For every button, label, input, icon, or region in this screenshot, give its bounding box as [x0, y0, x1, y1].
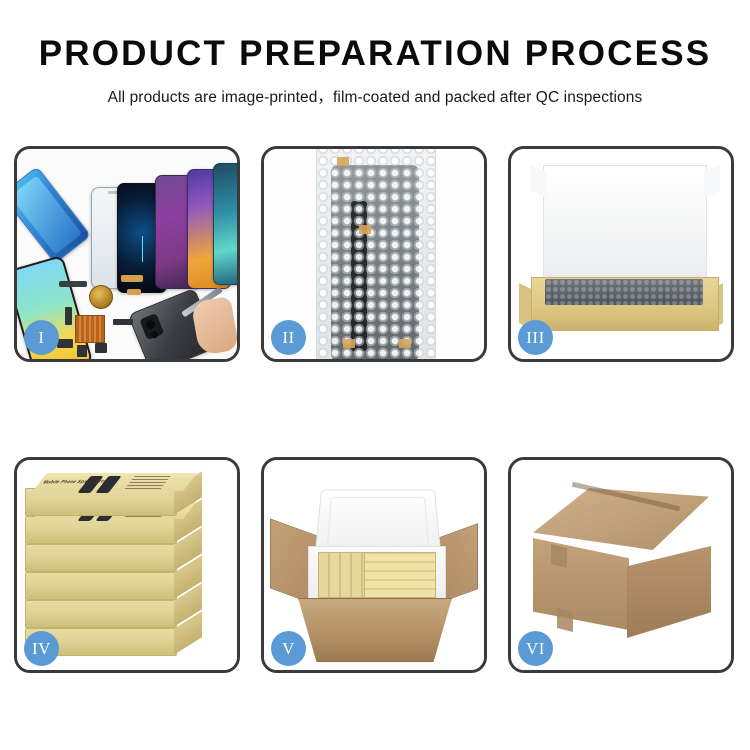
yellow-boxes-flat: [364, 552, 436, 598]
tape-piece-1: [337, 157, 349, 166]
kraft-box-lid: [543, 165, 707, 285]
carton-front-face: [533, 538, 629, 630]
step-badge-2: II: [271, 320, 306, 355]
process-step-grid: I II: [14, 146, 740, 673]
tape-piece-3: [343, 339, 355, 348]
stacked-box-5: [25, 600, 177, 628]
process-step-panel-3: III: [508, 146, 734, 362]
connector-part-5: [113, 319, 133, 325]
bubble-texture: [317, 149, 435, 359]
step-badge-4: IV: [24, 631, 59, 666]
step-badge-3: III: [518, 320, 553, 355]
carton-side-face: [627, 546, 711, 638]
page-title: PRODUCT PREPARATION PROCESS: [0, 36, 750, 71]
connector-part-3: [77, 345, 87, 357]
page-header: PRODUCT PREPARATION PROCESS All products…: [0, 0, 750, 107]
page-subtitle: All products are image-printed，film-coat…: [0, 85, 750, 107]
box-stack: Mobile Phone Spare Parts Mobile Phone Sp…: [25, 478, 231, 664]
blue-phone-housing: [17, 166, 91, 264]
connector-part-4: [95, 343, 107, 353]
product-preparation-infographic: PRODUCT PREPARATION PROCESS All products…: [0, 0, 750, 750]
tape-piece-2: [359, 225, 371, 234]
bubble-wrap-sleeve: [316, 149, 436, 359]
step-badge-1: I: [24, 320, 59, 355]
stacked-box-4: [25, 572, 177, 600]
small-part-bar: [59, 281, 87, 287]
tape-piece-4: [399, 339, 411, 348]
stacked-box-2: Mobile Phone Spare Parts: [25, 516, 177, 544]
chip-array-part: [75, 315, 105, 343]
step-badge-5: V: [271, 631, 306, 666]
process-step-panel-5: V: [261, 457, 487, 673]
teal-phone-display: [213, 163, 237, 285]
carton-tape-lower: [557, 608, 573, 632]
process-step-panel-1: I: [14, 146, 240, 362]
stacked-box-top: Mobile Phone Spare Parts: [25, 488, 177, 516]
stacked-box-3: [25, 544, 177, 572]
connector-part-2: [57, 339, 73, 348]
flex-cable-2: [127, 289, 141, 295]
carton-body: [298, 598, 452, 662]
carton-tape-upper: [551, 544, 567, 568]
flex-cable-1: [121, 275, 143, 282]
process-step-panel-4: Mobile Phone Spare Parts Mobile Phone Sp…: [14, 457, 240, 673]
step-badge-6: VI: [518, 631, 553, 666]
connector-part-1: [65, 307, 72, 325]
process-step-panel-6: VI: [508, 457, 734, 673]
bubble-wrapped-contents: [545, 279, 703, 305]
process-step-panel-2: II: [261, 146, 487, 362]
speaker-coil-part: [89, 285, 113, 309]
